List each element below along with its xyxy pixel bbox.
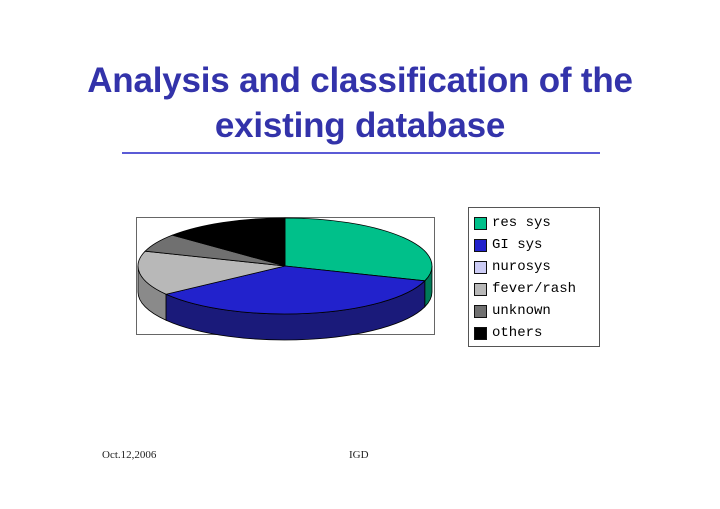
legend-item-gi-sys[interactable]: GI sys	[474, 234, 594, 256]
title-divider	[122, 152, 600, 154]
legend-swatch-unknown	[474, 305, 487, 318]
footer-organization: IGD	[349, 449, 369, 461]
legend-item-unknown[interactable]: unknown	[474, 300, 594, 322]
chart-plot-area-border	[136, 217, 435, 335]
legend-swatch-gi-sys	[474, 239, 487, 252]
legend-item-res-sys[interactable]: res sys	[474, 212, 594, 234]
legend-label-fever-rash: fever/rash	[492, 282, 576, 296]
legend-label-res-sys: res sys	[492, 216, 551, 230]
legend-label-gi-sys: GI sys	[492, 238, 542, 252]
legend-item-nurosys[interactable]: nurosys	[474, 256, 594, 278]
legend-item-others[interactable]: others	[474, 322, 594, 344]
footer-date: Oct.12,2006	[102, 449, 156, 461]
title-line-1: Analysis and classification of the	[60, 58, 660, 103]
title-line-2: existing database	[60, 103, 660, 148]
legend-swatch-others	[474, 327, 487, 340]
chart-legend: res sys GI sys nurosys fever/rash unknow…	[468, 207, 600, 347]
legend-label-unknown: unknown	[492, 304, 551, 318]
legend-item-fever-rash[interactable]: fever/rash	[474, 278, 594, 300]
page-title: Analysis and classification of the exist…	[60, 58, 660, 148]
slide-canvas: Analysis and classification of the exist…	[0, 0, 720, 509]
legend-label-others: others	[492, 326, 542, 340]
legend-swatch-fever-rash	[474, 283, 487, 296]
legend-swatch-nurosys	[474, 261, 487, 274]
legend-swatch-res-sys	[474, 217, 487, 230]
legend-label-nurosys: nurosys	[492, 260, 551, 274]
